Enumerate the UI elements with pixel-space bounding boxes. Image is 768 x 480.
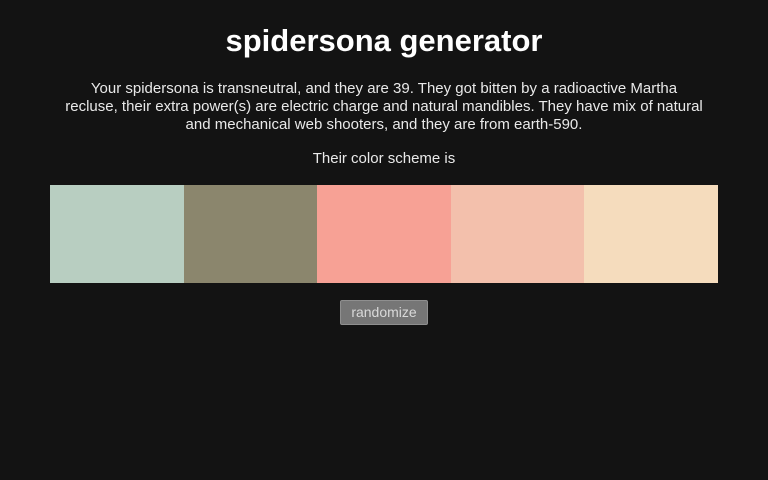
swatch-5 bbox=[584, 185, 718, 283]
swatch-2 bbox=[184, 185, 318, 283]
swatch-1 bbox=[50, 185, 184, 283]
page-title: spidersona generator bbox=[0, 25, 768, 56]
color-scheme-swatch-bar bbox=[50, 185, 718, 283]
randomize-button[interactable]: randomize bbox=[340, 300, 427, 325]
randomize-button-container: randomize bbox=[0, 300, 768, 325]
spidersona-generator-page: spidersona generator Your spidersona is … bbox=[0, 0, 768, 480]
swatch-4 bbox=[451, 185, 585, 283]
spidersona-description: Your spidersona is transneutral, and the… bbox=[64, 80, 704, 134]
swatch-3 bbox=[317, 185, 451, 283]
color-scheme-label: Their color scheme is bbox=[0, 150, 768, 168]
